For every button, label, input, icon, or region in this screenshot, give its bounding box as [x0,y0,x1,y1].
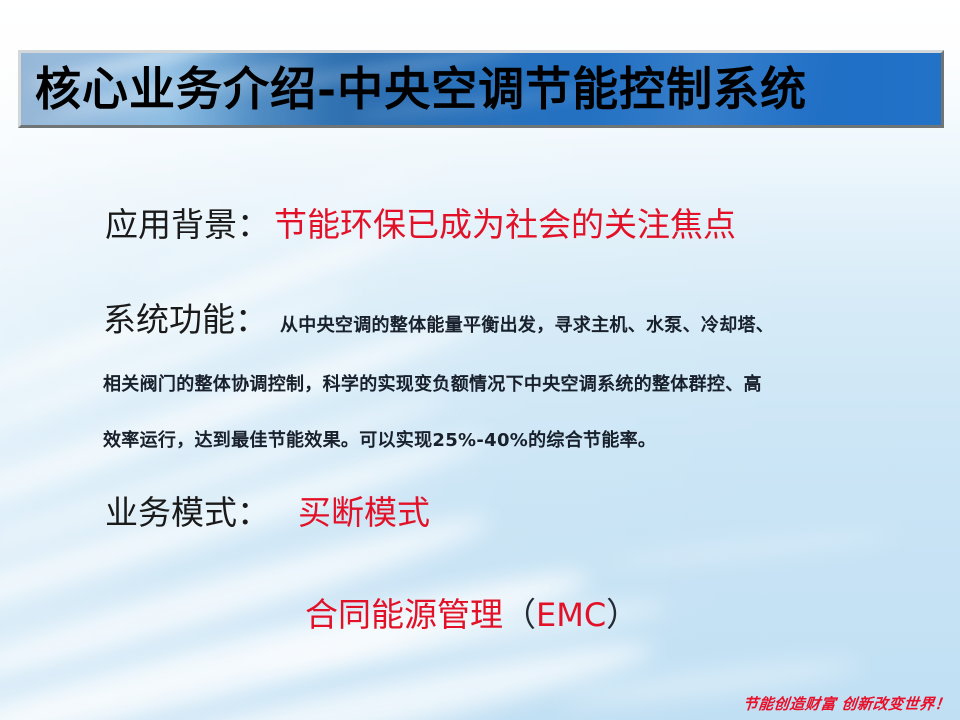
system-function-line-3-row: 效率运行，达到最佳节能效果。可以实现25%-40%的综合节能率。 [103,432,656,450]
section-application-background: 应用背景： 节能环保已成为社会的关注焦点 [105,208,736,241]
business-model-label: 业务模式： [105,496,270,529]
business-model-value: 买断模式 [298,496,430,529]
page-title: 核心业务介绍-中央空调节能控制系统 [21,66,807,112]
slide-canvas: 核心业务介绍-中央空调节能控制系统 应用背景： 节能环保已成为社会的关注焦点 系… [0,0,960,720]
footer-slogan: 节能创造财富 创新改变世界！ [742,697,951,712]
application-background-value: 节能环保已成为社会的关注焦点 [274,208,736,241]
emc-abbreviation: EMC [536,596,606,634]
emc-label: 合同能源管理 [305,598,503,631]
business-model-emc-row: 合同能源管理 （ EMC ） [305,588,639,636]
emc-paren-close: ） [606,588,639,636]
section-business-model: 业务模式： 买断模式 [105,496,430,529]
system-function-line-2: 相关阀门的整体协调控制，科学的实现变负额情况下中央空调系统的整体群控、高 [103,376,762,394]
application-background-label: 应用背景： [105,208,270,241]
system-function-label: 系统功能： [103,303,268,336]
system-function-line-2-row: 相关阀门的整体协调控制，科学的实现变负额情况下中央空调系统的整体群控、高 [103,376,762,394]
section-system-function: 系统功能： 从中央空调的整体能量平衡出发，寻求主机、水泵、冷却塔、 [103,303,774,336]
emc-paren-open: （ [503,588,536,636]
system-function-line-1: 从中央空调的整体能量平衡出发，寻求主机、水泵、冷却塔、 [280,317,774,335]
system-function-line-3: 效率运行，达到最佳节能效果。可以实现25%-40%的综合节能率。 [103,432,656,450]
